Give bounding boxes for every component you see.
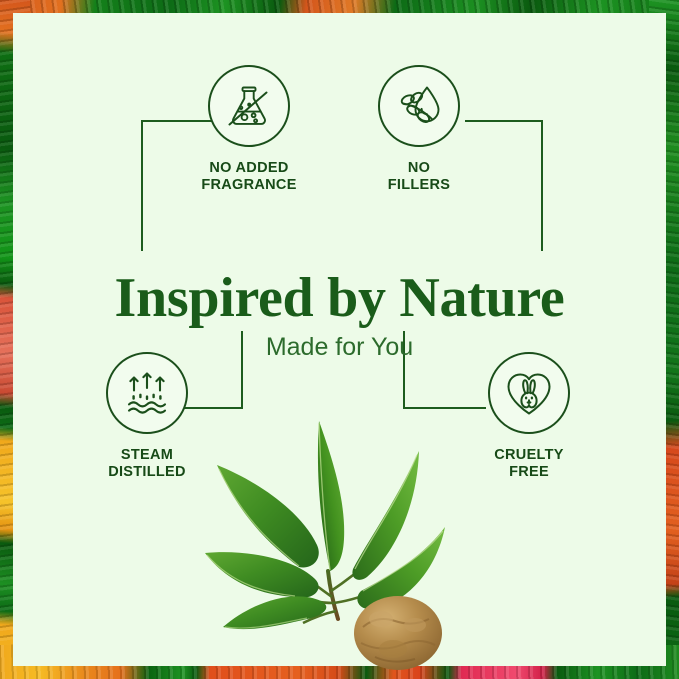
leaf-upper-left [217, 465, 319, 567]
leaf-lower-left [223, 596, 326, 629]
badge-label: STEAM DISTILLED [77, 447, 217, 481]
badge-no-added-fragrance: NO ADDED FRAGRANCE [179, 65, 319, 194]
content-panel: NO ADDED FRAGRANCE [13, 13, 666, 666]
badge-label: NO FILLERS [349, 160, 489, 194]
flask-no-fragrance-icon [221, 78, 277, 134]
badge-steam-distilled: STEAM DISTILLED [77, 352, 217, 481]
resin-clump [354, 596, 442, 670]
badge-no-fillers: NO FILLERS [349, 65, 489, 194]
page-title: Inspired by Nature [13, 266, 666, 330]
poster-canvas: NO ADDED FRAGRANCE [0, 0, 679, 679]
badge-circle [208, 65, 290, 147]
badge-label: NO ADDED FRAGRANCE [179, 160, 319, 194]
badge-circle [378, 65, 460, 147]
connector-top-right-vertical [541, 120, 543, 251]
steam-arrows-waves-icon [120, 366, 174, 420]
page-subtitle: Made for You [13, 333, 666, 362]
leaf-upper-right [352, 451, 419, 580]
bay-leaf-branch-artwork [203, 411, 503, 673]
heart-rabbit-icon [502, 366, 556, 420]
badge-circle [106, 352, 188, 434]
connector-top-left-vertical [141, 120, 143, 251]
leaf-top-center [318, 421, 344, 571]
droplet-leaf-icon [391, 78, 447, 134]
